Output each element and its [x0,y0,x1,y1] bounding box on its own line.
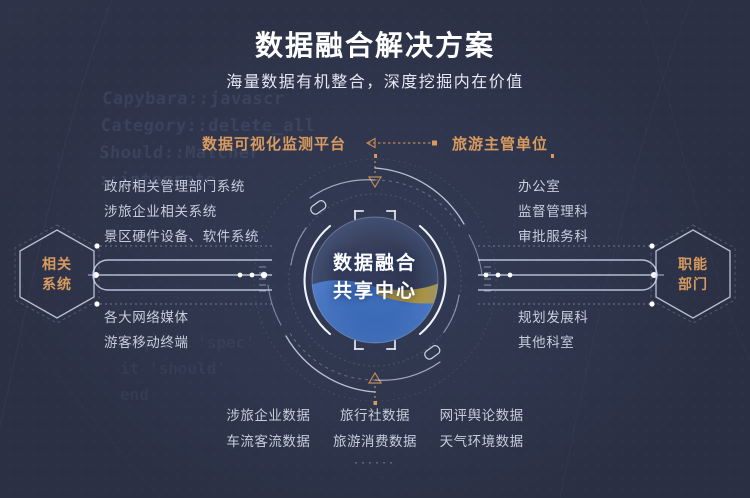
bottom-data-list: 涉旅企业数据 旅行社数据 网评舆论数据 车流客流数据 旅游消费数据 天气环境数据 [215,404,535,450]
list-item: 网评舆论数据 [428,404,535,424]
list-item: 涉旅企业数据 [215,404,322,424]
list-item: 其他科室 [518,330,589,355]
label-tourism-authority: 旅游主管单位 [452,133,548,154]
hexagon-right-label: 职能 部门 [650,226,736,322]
center-line2: 共享中心 [333,278,417,306]
page-subtitle: 海量数据有机整合，深度挖掘内在价值 [0,68,750,92]
list-item: 游客移动终端 [104,330,189,355]
list-item: 办公室 [518,174,589,199]
center-line1: 数据融合 [333,250,417,278]
center-hub[interactable]: 数据融合 共享中心 [250,155,500,405]
hexagon-left-line1: 相关 [42,254,72,274]
center-hub-label: 数据融合 共享中心 [250,155,500,405]
page-title: 数据融合解决方案 [0,24,750,64]
list-item: 审批服务科 [518,224,589,249]
list-item: 景区硬件设备、软件系统 [104,224,259,249]
right-top-department-list: 办公室 监督管理科 审批服务科 [518,174,589,249]
list-item: 监督管理科 [518,199,589,224]
list-item: 旅行社数据 [322,404,429,424]
hexagon-functional-departments[interactable]: 职能 部门 [650,226,736,322]
list-item: 政府相关管理部门系统 [104,174,259,199]
hexagon-left-label: 相关 系统 [14,226,100,322]
list-item: 旅游消费数据 [322,430,429,450]
list-item: 车流客流数据 [215,430,322,450]
list-item: 涉旅企业相关系统 [104,199,259,224]
label-visualization-platform: 数据可视化监测平台 [202,133,346,154]
list-item: 天气环境数据 [428,430,535,450]
hexagon-right-line1: 职能 [678,254,708,274]
bottom-ellipsis: ······ [0,455,750,469]
hexagon-related-systems[interactable]: 相关 系统 [14,226,100,322]
left-top-source-list: 政府相关管理部门系统 涉旅企业相关系统 景区硬件设备、软件系统 [104,174,259,249]
hexagon-right-line2: 部门 [678,274,708,294]
left-bottom-source-list: 各大网络媒体 游客移动终端 [104,305,189,355]
list-item: 各大网络媒体 [104,305,189,330]
list-item: 规划发展科 [518,305,589,330]
hexagon-left-line2: 系统 [42,274,72,294]
infographic-canvas: Capybara::javascr Category::delete_all S… [0,0,750,498]
dotted-left-arrow-icon [356,137,442,149]
right-bottom-department-list: 规划发展科 其他科室 [518,305,589,355]
top-label-row: 数据可视化监测平台 旅游主管单位 [0,132,750,154]
